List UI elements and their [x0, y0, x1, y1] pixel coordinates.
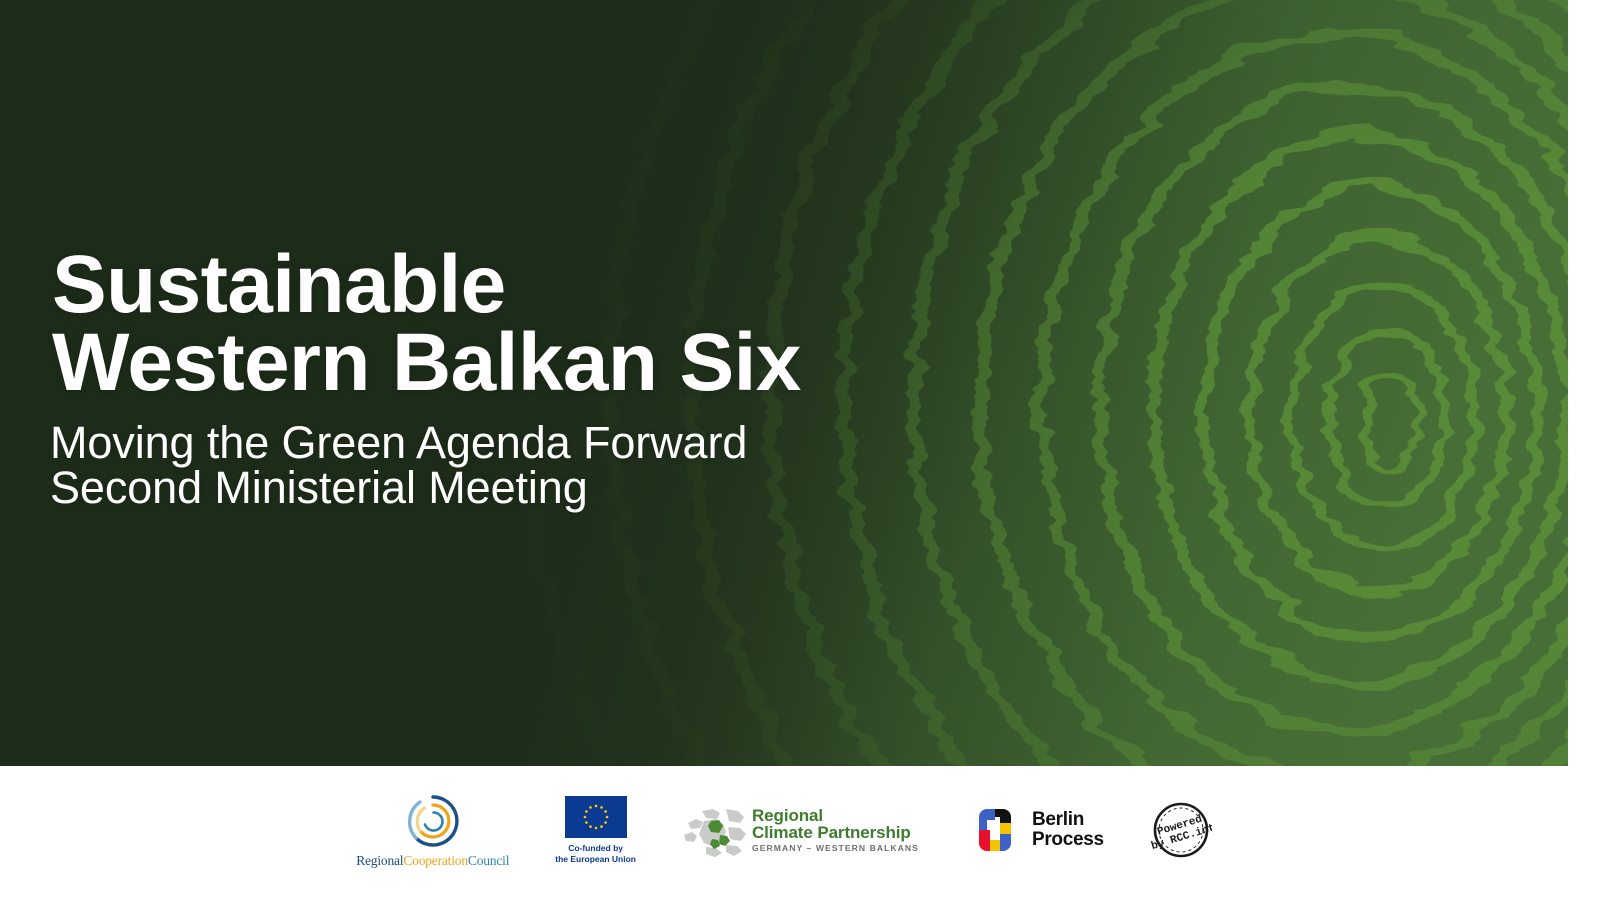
logo-european-union: Co-funded by the European Union	[555, 796, 636, 864]
partner-logo-bar: RegionalCooperationCouncil	[0, 766, 1568, 900]
powered-by-rcc-stamp-icon: Powered by RCC.int	[1150, 799, 1212, 861]
rcp-wordmark: Regional Climate Partnership GERMANY – W…	[752, 807, 919, 853]
rcp-line-1: Regional	[752, 807, 919, 824]
berlin-process-line-1: Berlin	[1032, 810, 1104, 830]
rcp-line-3: GERMANY – WESTERN BALKANS	[752, 844, 919, 853]
logo-berlin-process: Berlin Process	[965, 801, 1104, 859]
logo-regional-cooperation-council: RegionalCooperationCouncil	[356, 792, 509, 869]
logo-powered-by-rcc: Powered by RCC.int	[1150, 799, 1212, 861]
rcc-word-cooperation: Cooperation	[403, 853, 468, 868]
presentation-slide: Sustainable Western Balkan Six Moving th…	[0, 0, 1600, 900]
rcc-circle-icon	[404, 792, 462, 850]
eu-flag-icon	[565, 796, 627, 838]
slide-subtitle-block: Moving the Green Agenda Forward Second M…	[50, 420, 1000, 510]
slide-title-block: Sustainable Western Balkan Six	[52, 246, 1002, 402]
rcp-line-2: Climate Partnership	[752, 824, 919, 841]
berlin-process-wordmark: Berlin Process	[1032, 810, 1104, 850]
page-title: Sustainable Western Balkan Six	[52, 246, 1002, 402]
hero-panel: Sustainable Western Balkan Six Moving th…	[0, 0, 1568, 766]
berlin-process-mark-icon	[965, 801, 1023, 859]
eu-caption: Co-funded by the European Union	[555, 843, 636, 864]
subtitle-line-1: Moving the Green Agenda Forward	[50, 420, 1000, 465]
rcc-word-council: Council	[468, 853, 509, 868]
subtitle-line-2: Second Ministerial Meeting	[50, 465, 1000, 510]
berlin-process-line-2: Process	[1032, 830, 1104, 850]
rcc-wordmark: RegionalCooperationCouncil	[356, 853, 509, 869]
logo-regional-climate-partnership: Regional Climate Partnership GERMANY – W…	[682, 801, 919, 859]
europe-map-icon	[682, 801, 748, 859]
rcc-word-regional: Regional	[356, 853, 403, 868]
